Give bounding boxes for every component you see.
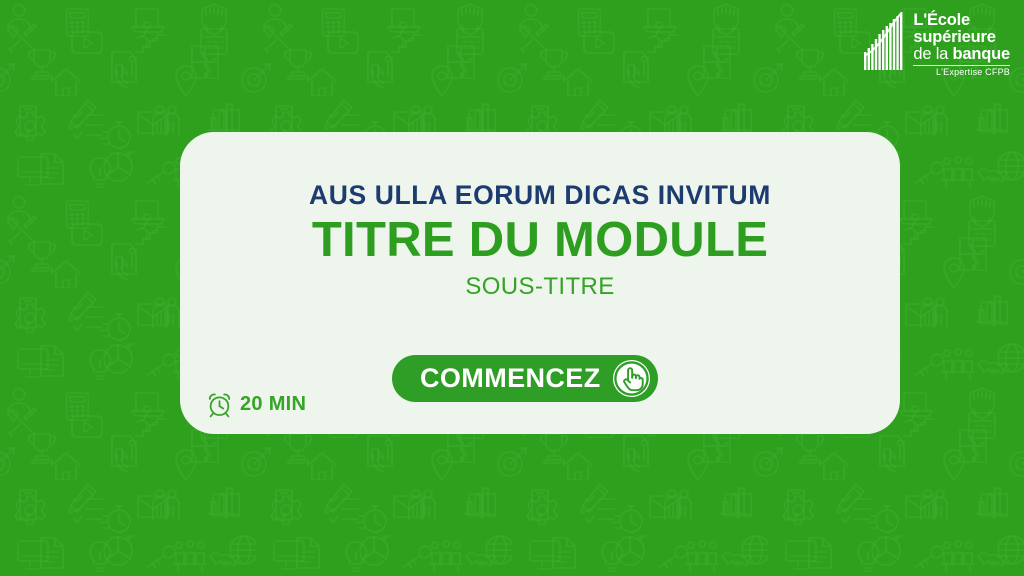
module-subtitle: SOUS-TITRE <box>465 273 614 301</box>
duration-text: 20 MIN <box>240 393 306 416</box>
pointing-hand-cursor-icon <box>612 359 651 398</box>
module-kicker: AUS ULLA EORUM DICAS INVITUM <box>309 180 771 211</box>
logo-divider <box>913 65 1010 66</box>
logo-line-3-light: de la <box>913 45 952 63</box>
logo-line-3-bold: banque <box>953 45 1010 63</box>
brand-logo: L'École supérieure de la banque L'Expert… <box>864 12 1010 78</box>
start-button[interactable]: COMMENCEZ <box>392 355 658 402</box>
slide-root: L'École supérieure de la banque L'Expert… <box>0 0 1024 576</box>
start-button-label: COMMENCEZ <box>420 363 601 394</box>
page-title: TITRE DU MODULE <box>312 215 768 267</box>
logo-line-2: supérieure <box>913 29 1010 46</box>
duration-indicator: 20 MIN <box>206 391 306 418</box>
logo-line-3: de la banque <box>913 46 1010 63</box>
ascending-bar-chart-mark <box>864 12 906 70</box>
module-card: AUS ULLA EORUM DICAS INVITUM TITRE DU MO… <box>180 132 900 434</box>
logo-line-1: L'École <box>913 12 1010 29</box>
alarm-clock-icon <box>206 391 233 418</box>
logo-tagline: L'Expertise CFPB <box>913 68 1010 77</box>
